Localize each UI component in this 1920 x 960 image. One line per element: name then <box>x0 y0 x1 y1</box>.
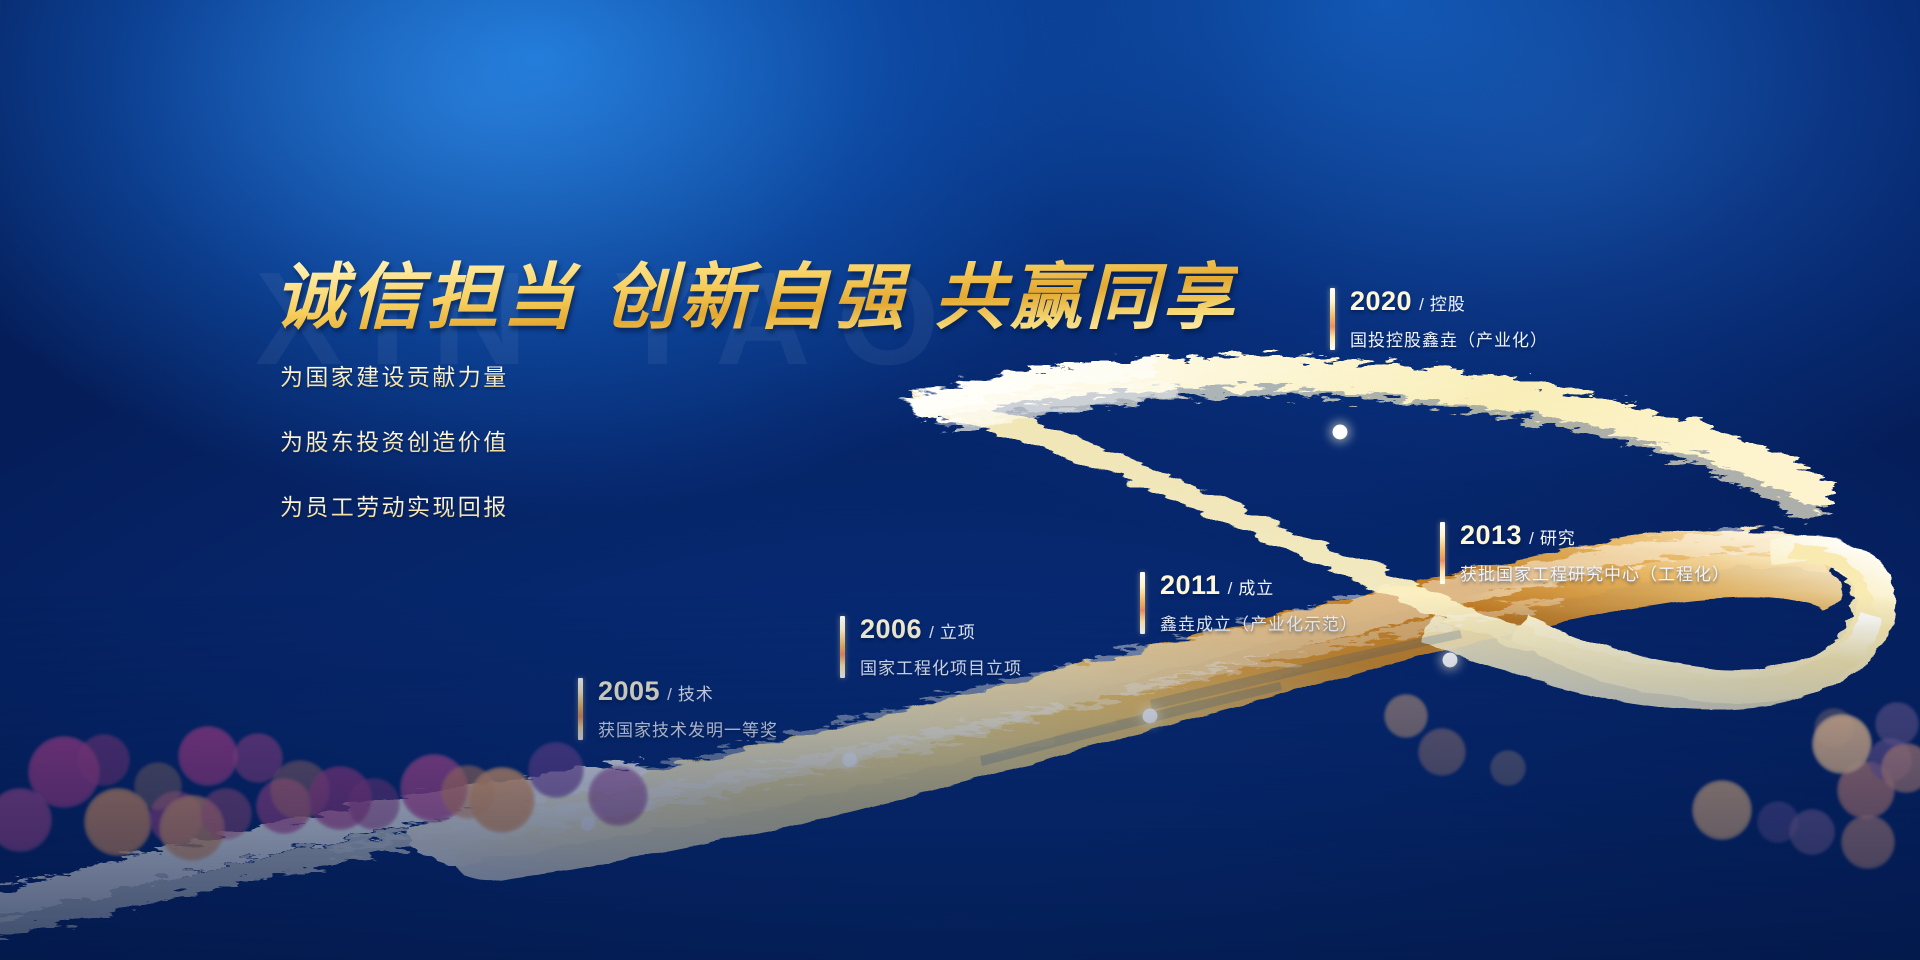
bokeh-circle-right <box>1837 761 1895 819</box>
page-title: 诚信担当创新自强共赢同享 <box>274 238 1238 343</box>
milestone-2013[interactable]: 2013/研究获批国家工程研究中心（工程化） <box>1440 520 1730 585</box>
milestone-description: 国家工程化项目立项 <box>860 654 1022 679</box>
milestone-kind: 技术 <box>678 685 714 704</box>
bokeh-circle-left <box>0 788 52 852</box>
bokeh-circle-left <box>270 760 330 820</box>
page-title-phrase-2: 创新自强 <box>604 258 908 338</box>
milestone-accent-bar <box>1140 572 1145 634</box>
milestone-2011[interactable]: 2011/成立鑫垚成立（产业化示范） <box>1140 570 1358 635</box>
bokeh-circle-left <box>134 762 182 810</box>
bokeh-circle-right <box>1814 708 1854 748</box>
milestone-accent-bar <box>840 616 845 678</box>
bokeh-circle-left <box>348 778 400 830</box>
milestone-text: 2020/控股国投控股鑫垚（产业化） <box>1350 286 1548 351</box>
milestone-heading: 2013/研究 <box>1460 520 1730 551</box>
bokeh-circle-right <box>1757 801 1799 843</box>
bokeh-circle-left <box>588 766 648 826</box>
milestone-year: 2006 <box>860 614 922 645</box>
banner-stage: XIN YAO 诚信担当创新自强共赢同享 为国家建设贡献力量 为股东投资创造价值… <box>0 0 1920 960</box>
bokeh-circle-left <box>441 765 495 819</box>
milestone-kind: 立项 <box>940 623 976 642</box>
milestone-year: 2013 <box>1460 520 1522 551</box>
milestone-description: 鑫垚成立（产业化示范） <box>1160 610 1358 635</box>
bokeh-circle-right <box>1875 702 1919 746</box>
milestone-separator: / <box>667 685 672 704</box>
milestone-2020[interactable]: 2020/控股国投控股鑫垚（产业化） <box>1330 286 1548 351</box>
bokeh-circle-left <box>308 766 372 830</box>
bokeh-circle-right <box>1384 694 1428 738</box>
slogan-line-2: 为股东投资创造价值 <box>280 423 509 457</box>
milestone-kind: 成立 <box>1238 579 1274 598</box>
milestone-text: 2011/成立鑫垚成立（产业化示范） <box>1160 570 1358 635</box>
bokeh-circle-right <box>1789 809 1835 855</box>
bokeh-circle-left <box>28 736 100 808</box>
milestone-dot-marker[interactable] <box>843 753 858 768</box>
milestone-year: 2020 <box>1350 286 1412 317</box>
milestone-year: 2005 <box>598 676 660 707</box>
bokeh-circle-left <box>256 778 312 834</box>
milestone-text: 2005/技术获国家技术发明一等奖 <box>598 676 778 741</box>
milestone-separator: / <box>929 623 934 642</box>
bokeh-circle-right <box>1841 815 1895 869</box>
bokeh-circle-left <box>200 788 252 840</box>
milestone-description: 获批国家工程研究中心（工程化） <box>1460 560 1730 585</box>
milestone-description: 获国家技术发明一等奖 <box>598 716 778 741</box>
milestone-accent-bar <box>1440 522 1445 584</box>
milestone-description: 国投控股鑫垚（产业化） <box>1350 326 1548 351</box>
milestone-heading: 2011/成立 <box>1160 570 1358 601</box>
milestone-separator: / <box>1419 295 1424 314</box>
milestone-separator: / <box>1228 579 1233 598</box>
milestone-dot-marker[interactable] <box>1443 653 1458 668</box>
bokeh-circle-left <box>78 734 130 786</box>
slogan-line-3: 为员工劳动实现回报 <box>280 488 509 522</box>
bokeh-circle-left <box>233 733 283 783</box>
milestone-heading: 2020/控股 <box>1350 286 1548 317</box>
slogan-line-1: 为国家建设贡献力量 <box>280 358 509 392</box>
bokeh-circle-right <box>1881 743 1920 793</box>
bokeh-circle-right <box>1868 738 1912 782</box>
slogan-list: 为国家建设贡献力量 为股东投资创造价值 为员工劳动实现回报 <box>280 358 509 553</box>
milestone-kind: 控股 <box>1430 295 1466 314</box>
bokeh-circle-right <box>1692 780 1752 840</box>
milestone-separator: / <box>1529 529 1534 548</box>
bokeh-circle-left <box>469 767 535 833</box>
bokeh-circle-left <box>528 742 584 798</box>
bokeh-circle-left <box>84 788 152 856</box>
milestone-dot-marker[interactable] <box>581 817 596 832</box>
milestone-text: 2006/立项国家工程化项目立项 <box>860 614 1022 679</box>
milestone-dot-marker[interactable] <box>1333 425 1348 440</box>
milestone-kind: 研究 <box>1540 529 1576 548</box>
milestone-2005[interactable]: 2005/技术获国家技术发明一等奖 <box>578 676 778 741</box>
milestone-heading: 2006/立项 <box>860 614 1022 645</box>
milestone-accent-bar <box>1330 288 1335 350</box>
page-title-phrase-1: 诚信担当 <box>274 258 578 338</box>
milestone-year: 2011 <box>1160 570 1221 601</box>
bokeh-circle-right <box>1418 728 1466 776</box>
milestone-2006[interactable]: 2006/立项国家工程化项目立项 <box>840 614 1022 679</box>
page-title-phrase-3: 共赢同享 <box>934 258 1238 338</box>
bokeh-circle-left <box>159 795 225 861</box>
bokeh-circle-left <box>400 754 468 822</box>
milestone-text: 2013/研究获批国家工程研究中心（工程化） <box>1460 520 1730 585</box>
milestone-heading: 2005/技术 <box>598 676 778 707</box>
milestone-dot-marker[interactable] <box>1143 709 1158 724</box>
bokeh-circle-left <box>178 726 238 786</box>
bokeh-circle-left <box>149 791 203 845</box>
milestone-accent-bar <box>578 678 583 740</box>
bokeh-circle-right <box>1812 714 1872 774</box>
bokeh-circle-right <box>1490 750 1526 786</box>
